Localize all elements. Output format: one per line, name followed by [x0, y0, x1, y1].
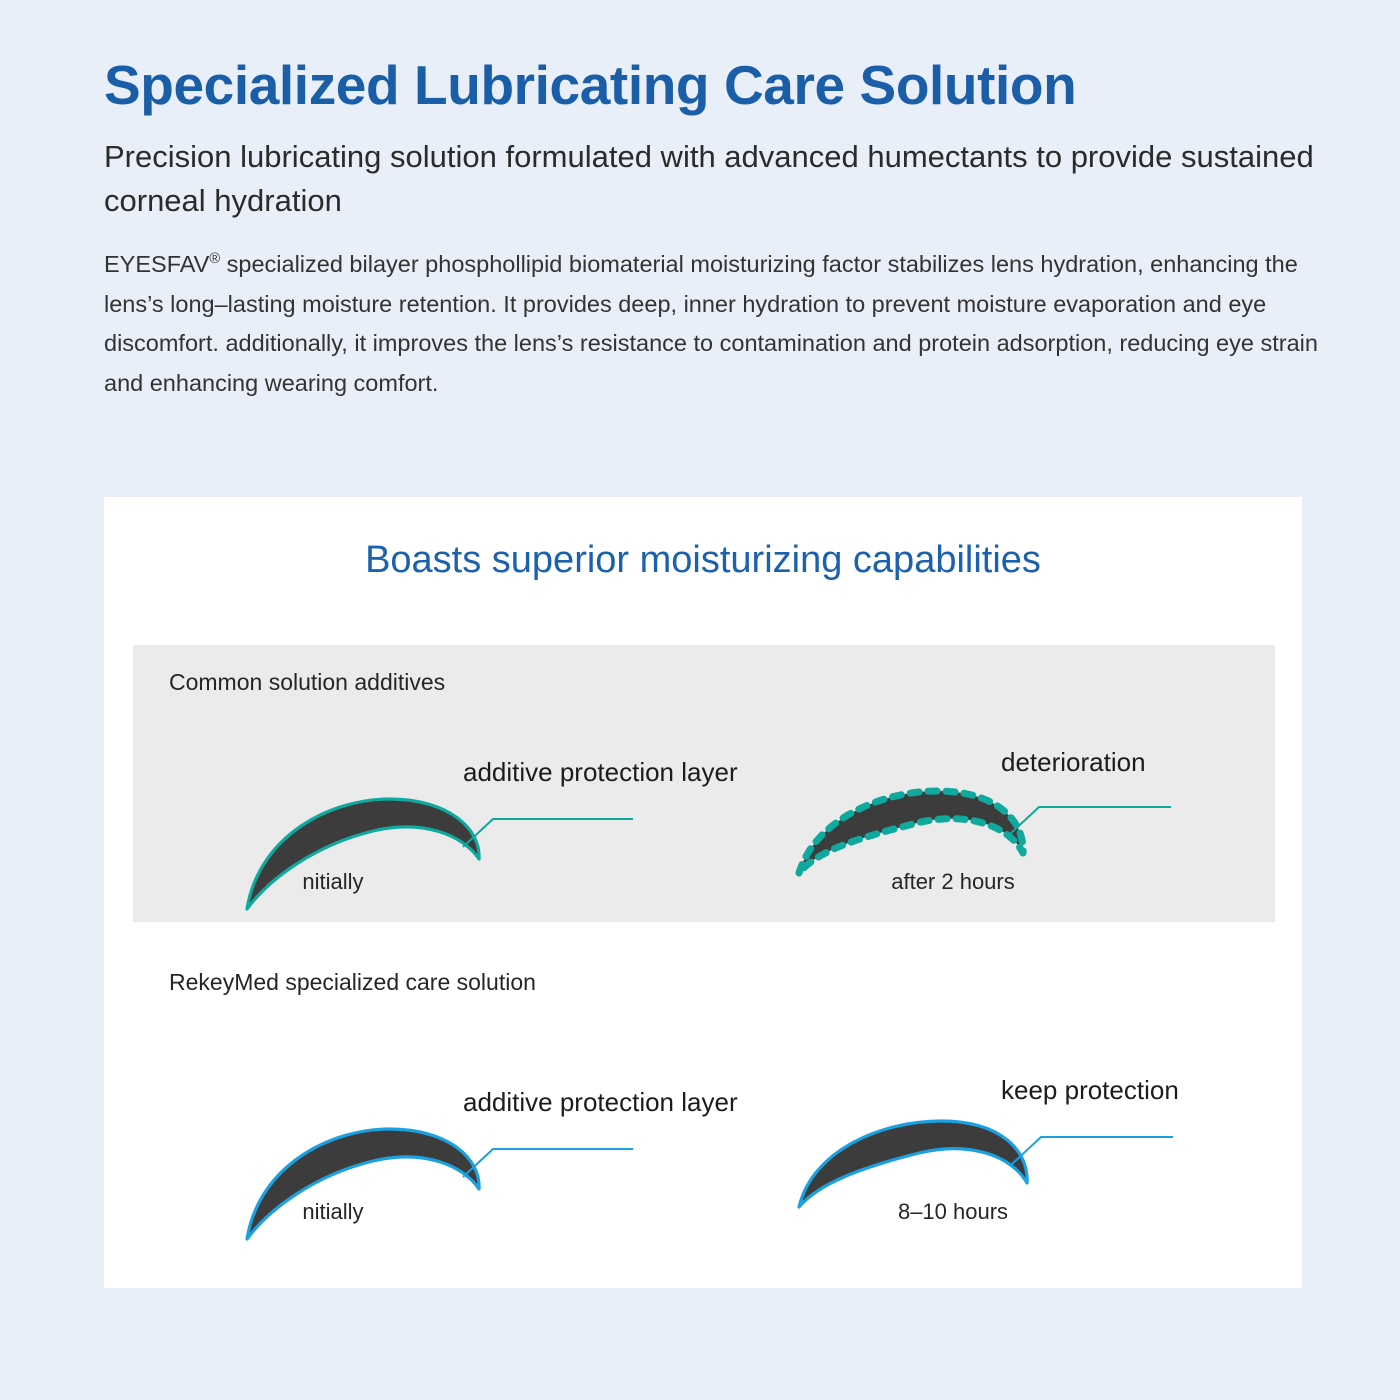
brand-name: EYESFAV: [104, 251, 209, 277]
caption-initially: nitially: [173, 1199, 493, 1225]
leader-line: [1009, 807, 1171, 835]
figure-rekeymed-8-10-hours: keep protection 8–10 hours: [773, 1037, 1243, 1237]
leader-line: [463, 819, 633, 847]
panel-rekeymed-solution: RekeyMed specialized care solution addit…: [133, 945, 1275, 1265]
comparison-card: Boasts superior moisturizing capabilitie…: [104, 497, 1302, 1288]
page-body-paragraph: EYESFAV® specialized bilayer phosphollip…: [104, 245, 1319, 403]
caption-initially: nitially: [173, 869, 493, 895]
callout-additive-protection-layer: additive protection layer: [463, 757, 738, 788]
body-text: specialized bilayer phosphollipid biomat…: [104, 251, 1318, 395]
registered-trademark-icon: ®: [209, 252, 220, 268]
page-title: Specialized Lubricating Care Solution: [104, 56, 1329, 115]
figure-common-after-2-hours: deterioration after 2 hours: [773, 707, 1243, 907]
lens-body-deteriorated: [799, 791, 1023, 873]
callout-additive-protection-layer: additive protection layer: [463, 1087, 738, 1118]
callout-keep-protection: keep protection: [1001, 1075, 1179, 1106]
leader-line: [463, 1149, 633, 1177]
leader-line: [1011, 1137, 1173, 1165]
panel-common-solution: Common solution additives additive prote…: [133, 645, 1275, 922]
caption-8-10-hours: 8–10 hours: [793, 1199, 1113, 1225]
header-block: Specialized Lubricating Care Solution Pr…: [104, 56, 1329, 403]
panel-label-common: Common solution additives: [169, 669, 445, 696]
lens-body: [799, 1121, 1027, 1207]
card-title: Boasts superior moisturizing capabilitie…: [104, 539, 1302, 582]
callout-deterioration: deterioration: [1001, 747, 1146, 778]
figure-rekeymed-initial: additive protection layer nitially: [163, 1037, 633, 1237]
page-subtitle: Precision lubricating solution formulate…: [104, 135, 1329, 223]
panel-label-rekeymed: RekeyMed specialized care solution: [169, 969, 536, 996]
figure-common-initial: additive protection layer nitially: [163, 707, 633, 907]
caption-after-2-hours: after 2 hours: [793, 869, 1113, 895]
